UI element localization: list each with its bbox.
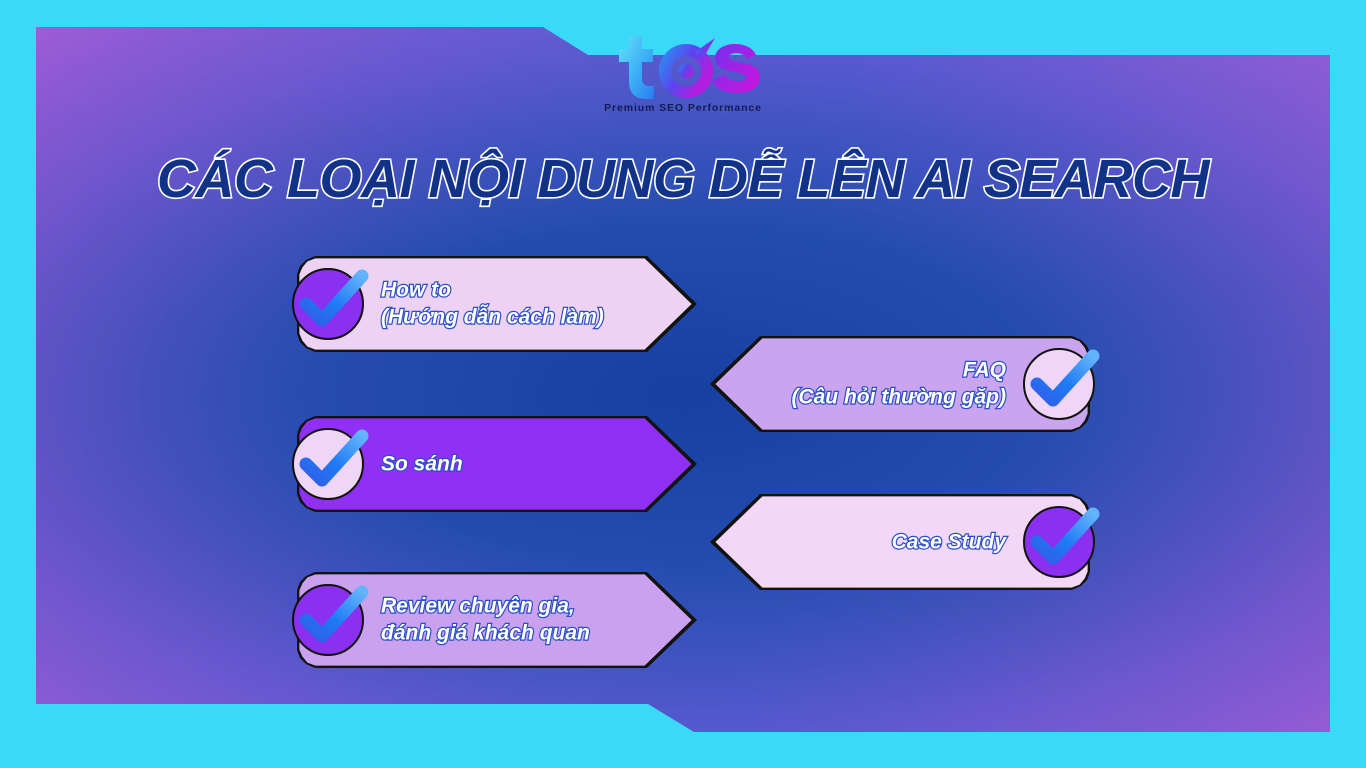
content-card-faq[interactable]: FAQ (Câu hỏi thường gặp) [710,336,1090,432]
checkmark-badge [1023,506,1095,578]
card-label: How to (Hướng dẫn cách làm) [381,277,604,332]
checkmark-badge [1023,348,1095,420]
check-icon [1019,496,1111,588]
check-icon [1019,338,1111,430]
page-title: CÁC LOẠI NỘI DUNG DỄ LÊN AI SEARCH [0,148,1366,210]
content-card-how-to[interactable]: How to (Hướng dẫn cách làm) [297,256,697,352]
checkmark-badge [292,268,364,340]
content-card-review[interactable]: Review chuyên gia, đánh giá khách quan [297,572,697,668]
card-label: Review chuyên gia, đánh giá khách quan [381,593,590,648]
card-label: So sánh [381,450,463,477]
check-icon [288,258,380,350]
check-icon [288,418,380,510]
card-label: Case Study [892,528,1006,555]
check-icon [288,574,380,666]
content-card-so-sanh[interactable]: So sánh [297,416,697,512]
card-label: FAQ (Câu hỏi thường gặp) [791,357,1006,412]
infographic-stage: Premium SEO Performance CÁC LOẠI NỘI DUN… [0,0,1366,768]
checkmark-badge [292,428,364,500]
content-card-case-study[interactable]: Case Study [710,494,1090,590]
checkmark-badge [292,584,364,656]
